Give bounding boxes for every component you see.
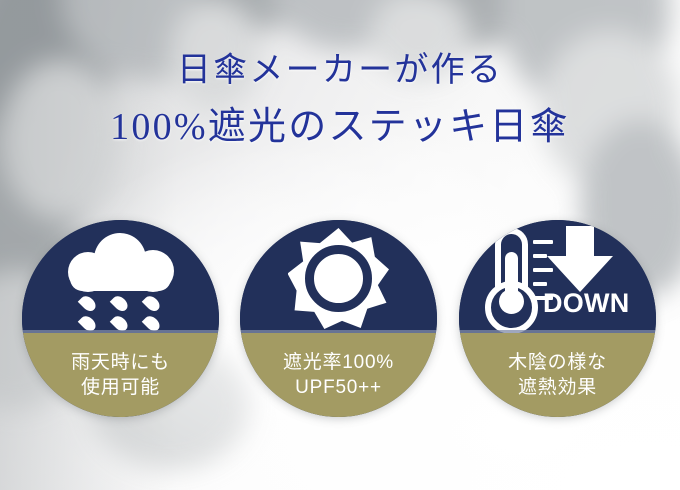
badge-caption: 雨天時にも 使用可能: [22, 333, 219, 417]
sun-disc: [305, 245, 372, 312]
thermometer-tick: [533, 282, 547, 286]
promo-banner: 日傘メーカーが作る 100%遮光のステッキ日傘 雨天時にも 使用可能: [0, 0, 680, 490]
feature-badge-heat: DOWN 木陰の様な 遮熱効果: [459, 220, 656, 417]
down-label: DOWN: [543, 288, 633, 318]
headline-line-1: 日傘メーカーが作る: [0, 44, 680, 98]
thermometer-mercury-bulb: [499, 289, 524, 314]
raindrop-icon: [110, 293, 131, 314]
badge-caption-line-2: 使用可能: [81, 375, 160, 400]
badge-caption-line-2: 遮熱効果: [518, 375, 597, 400]
badge-caption-line-2: UPF50++: [295, 375, 382, 400]
badge-caption-line-1: 雨天時にも: [71, 350, 170, 375]
raindrop-icon: [78, 293, 99, 314]
thermometer-down-icon: DOWN: [459, 220, 656, 333]
sun-icon: [240, 220, 437, 333]
sun-shape: [288, 228, 389, 329]
cloud-rain-icon: [22, 220, 219, 333]
thermometer-tick: [533, 254, 547, 258]
feature-badge-row: 雨天時にも 使用可能 遮光率100% UPF50++: [0, 220, 680, 420]
raindrop-icon: [142, 293, 163, 314]
cloud-shape: [68, 233, 173, 289]
headline: 日傘メーカーが作る 100%遮光のステッキ日傘: [0, 44, 680, 156]
badge-caption-line-1: 木陰の様な: [508, 350, 607, 375]
arrow-down-icon: [547, 226, 613, 292]
feature-badge-rain: 雨天時にも 使用可能: [22, 220, 219, 417]
badge-caption: 遮光率100% UPF50++: [240, 333, 437, 417]
headline-line-2: 100%遮光のステッキ日傘: [0, 98, 680, 156]
thermometer-icon: [481, 228, 547, 328]
badge-caption: 木陰の様な 遮熱効果: [459, 333, 656, 417]
badge-caption-line-1: 遮光率100%: [283, 350, 394, 375]
feature-badge-uv: 遮光率100% UPF50++: [240, 220, 437, 417]
